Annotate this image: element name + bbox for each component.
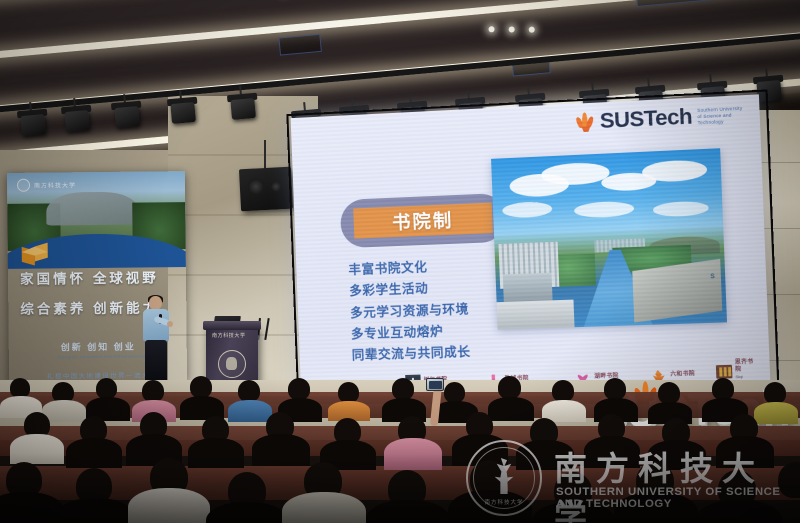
audience-shoulders <box>206 502 288 523</box>
projection-screen: SUSTech Southern University of Science a… <box>291 94 771 400</box>
audience-head <box>604 378 626 400</box>
audience-head <box>10 378 30 398</box>
slide-title-box: 书院制 <box>353 203 493 239</box>
slide-campus-photo: S <box>491 148 727 329</box>
banner-headline-1: 家国情怀 全球视野 <box>20 266 159 287</box>
audience-head <box>338 382 359 403</box>
wordmark-sus: SUS <box>599 107 644 133</box>
presenter-head <box>149 296 162 310</box>
audience-shoulders <box>188 438 244 468</box>
audience-head <box>552 380 574 402</box>
cube-icon <box>22 245 48 267</box>
photo-watermark: S <box>710 274 716 280</box>
audience-head <box>712 378 734 400</box>
audience-shoulders <box>56 498 134 523</box>
banner-motto-cn: 创新 创知 创业 <box>61 340 136 354</box>
photo-riverfront-road <box>632 259 722 323</box>
stage-spotlight <box>111 101 143 130</box>
audience-head <box>392 378 414 400</box>
audience-shoulders <box>532 502 616 523</box>
banner-university-name: 南方科技大学 <box>34 180 76 189</box>
audience-head <box>444 382 465 403</box>
banner-headline-2: 综合素养 创新能力 <box>20 296 159 317</box>
audience-shoulders <box>584 436 640 468</box>
wall-speaker <box>239 167 293 212</box>
audience-shoulders <box>754 402 798 424</box>
audience-shoulders <box>128 488 210 523</box>
photo-plaza <box>497 300 575 330</box>
audience-head <box>142 380 164 402</box>
photo-lowrise-buildings <box>502 273 553 302</box>
presenter <box>140 296 174 382</box>
audience <box>0 376 800 523</box>
audience-shoulders <box>252 434 310 466</box>
audience-head <box>498 376 521 399</box>
audience-shoulders <box>488 397 534 421</box>
audience-shoulders <box>282 492 366 523</box>
wordmark-tech: Tech <box>643 105 692 131</box>
audience-head <box>96 378 117 399</box>
sustech-logo: SUSTech Southern University of Science a… <box>576 103 745 133</box>
audience-head <box>190 376 212 398</box>
banner-university-logo: 南方科技大学 <box>17 178 76 192</box>
stage-spotlight <box>227 93 259 122</box>
slide-title: 书院制 <box>392 206 454 235</box>
audience-head <box>658 382 680 404</box>
audience-shoulders <box>516 440 574 470</box>
audience-shoulders <box>366 500 450 523</box>
audience-shoulders <box>716 436 774 468</box>
smartphone <box>426 378 444 391</box>
audience-head <box>764 382 786 404</box>
slide-title-pill: 书院制 <box>340 193 507 248</box>
audience-shoulders <box>10 434 64 464</box>
college-name: 思齐书院 <box>735 358 757 373</box>
seal-icon <box>17 179 30 192</box>
audience-shoulders <box>614 492 698 523</box>
presenter-hand <box>167 321 173 327</box>
audience-shoulders <box>66 438 122 468</box>
audience-head <box>778 462 800 498</box>
stage-spotlight <box>61 105 93 134</box>
speaker-mount <box>264 140 266 170</box>
audience-shoulders <box>696 500 782 523</box>
flame-torch-icon <box>576 111 595 132</box>
podium-university-name: 南方科技大学 <box>212 332 246 339</box>
podium-seal-icon <box>218 350 246 378</box>
podium-top <box>203 321 261 330</box>
sustech-subtitle: Southern University of Science and Techn… <box>697 105 745 126</box>
stage-spotlight <box>17 109 49 138</box>
audience-shoulders <box>228 400 272 422</box>
audience-head <box>238 380 260 402</box>
photo-scene: 南方科技大学 家国情怀 全球视野 综合素养 创新能力 创新 创知 创业 Rese… <box>0 0 800 523</box>
audience-shoulders <box>384 438 442 470</box>
stage-spotlight <box>167 97 199 126</box>
banner-motto-en: Research, Innovation and Entrepreneurshi… <box>57 353 151 359</box>
sustech-wordmark: SUSTech <box>599 106 692 132</box>
audience-shoulders <box>448 490 532 523</box>
audience-head <box>288 378 310 400</box>
bullet-item: 多元学习资源与环境 <box>350 299 470 325</box>
